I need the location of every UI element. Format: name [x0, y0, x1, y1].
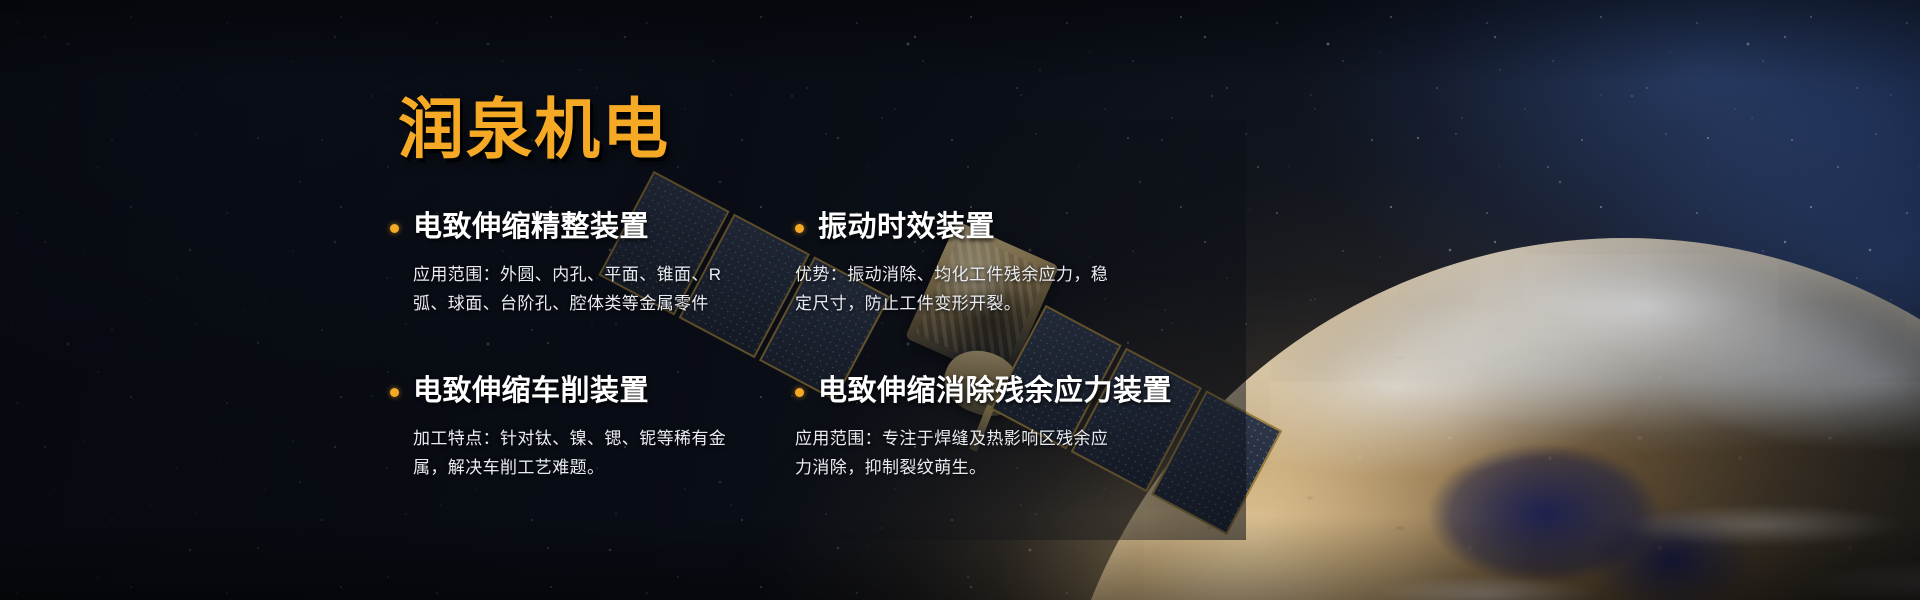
feature-description: 加工特点：针对钛、镍、锶、铌等稀有金属，解决车削工艺难题。 [413, 424, 743, 482]
feature-item-electrostrictive-finishing[interactable]: 电致伸缩精整装置 应用范围：外圆、内孔、平面、锥面、R弧、球面、台阶孔、腔体类等… [390, 210, 795, 318]
orange-dot-bullet-icon [795, 388, 804, 397]
hero-banner: 润泉机电 电致伸缩精整装置 应用范围：外圆、内孔、平面、锥面、R弧、球面、台阶孔… [0, 0, 1920, 600]
orange-dot-bullet-icon [390, 388, 399, 397]
feature-list: 电致伸缩精整装置 应用范围：外圆、内孔、平面、锥面、R弧、球面、台阶孔、腔体类等… [390, 210, 1180, 483]
feature-description: 应用范围：外圆、内孔、平面、锥面、R弧、球面、台阶孔、腔体类等金属零件 [413, 260, 743, 318]
feature-description: 优势：振动消除、均化工件残余应力，稳定尺寸，防止工件变形开裂。 [795, 260, 1117, 318]
feature-title: 电致伸缩精整装置 [413, 210, 649, 245]
feature-description: 应用范围：专注于焊缝及热影响区残余应力消除，抑制裂纹萌生。 [795, 424, 1125, 482]
feature-heading-row: 电致伸缩精整装置 [390, 210, 795, 245]
feature-heading-row: 电致伸缩车削装置 [390, 374, 795, 409]
feature-item-electrostrictive-turning[interactable]: 电致伸缩车削装置 加工特点：针对钛、镍、锶、铌等稀有金属，解决车削工艺难题。 [390, 374, 795, 482]
feature-item-vibratory-stress-relief[interactable]: 振动时效装置 优势：振动消除、均化工件残余应力，稳定尺寸，防止工件变形开裂。 [795, 210, 1180, 318]
feature-item-residual-stress-removal[interactable]: 电致伸缩消除残余应力装置 应用范围：专注于焊缝及热影响区残余应力消除，抑制裂纹萌… [795, 374, 1180, 482]
orange-dot-bullet-icon [795, 224, 804, 233]
feature-heading-row: 电致伸缩消除残余应力装置 [795, 374, 1180, 409]
feature-heading-row: 振动时效装置 [795, 210, 1180, 245]
brand-title: 润泉机电 [398, 96, 670, 162]
feature-title: 电致伸缩车削装置 [413, 374, 649, 409]
orange-dot-bullet-icon [390, 224, 399, 233]
banner-content: 润泉机电 电致伸缩精整装置 应用范围：外圆、内孔、平面、锥面、R弧、球面、台阶孔… [0, 0, 1920, 600]
feature-title: 振动时效装置 [818, 210, 995, 245]
feature-title: 电致伸缩消除残余应力装置 [818, 374, 1172, 409]
